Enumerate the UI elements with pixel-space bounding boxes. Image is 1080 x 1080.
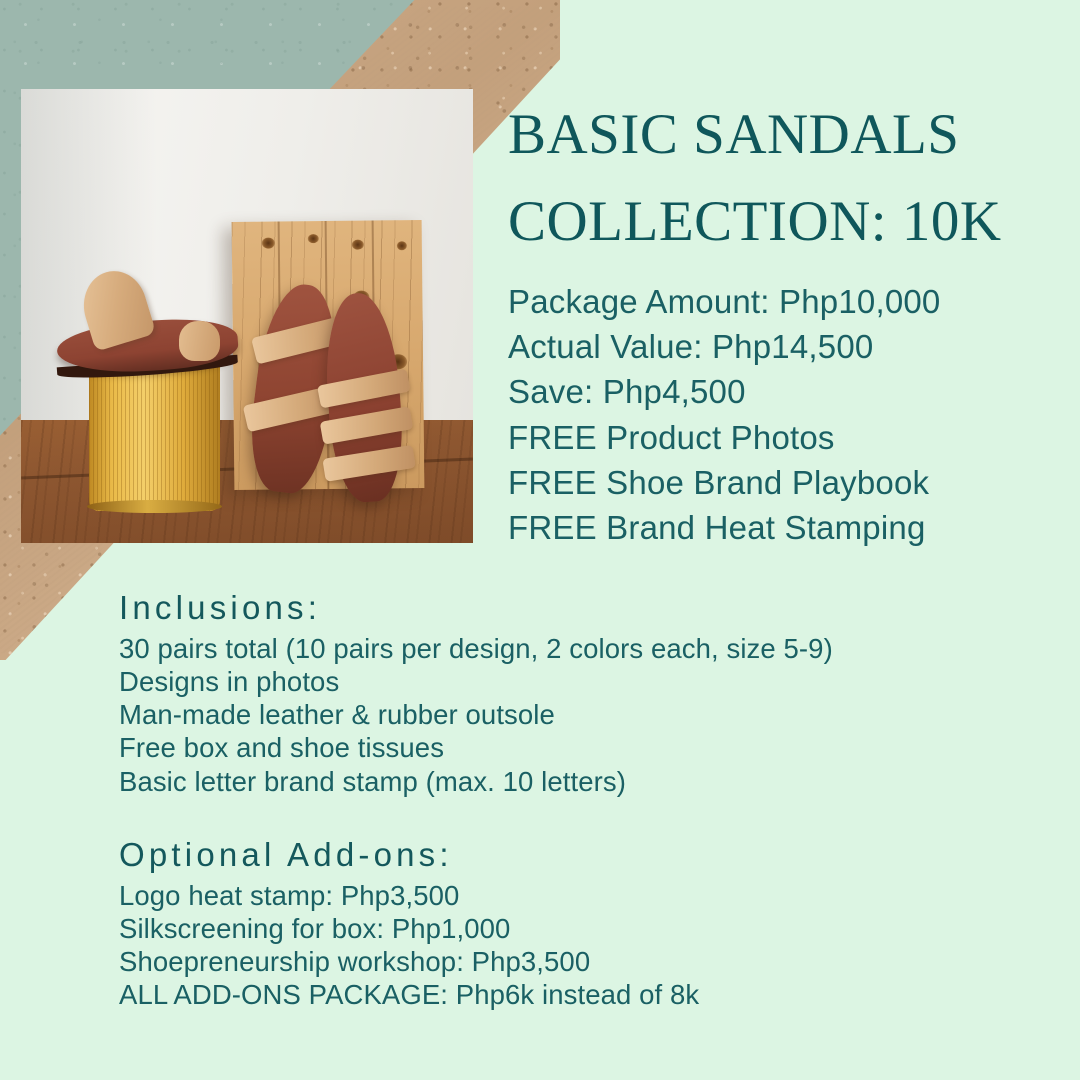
list-item: Free box and shoe tissues (119, 731, 1019, 764)
list-item: Silkscreening for box: Php1,000 (119, 912, 1019, 945)
page-title: BASIC SANDALS COLLECTION: 10K (508, 92, 1053, 265)
inclusions-list: 30 pairs total (10 pairs per design, 2 c… (119, 632, 1019, 798)
addons-heading: Optional Add-ons: (119, 833, 1019, 877)
headline-line-1: BASIC SANDALS (508, 92, 1053, 179)
list-item: Basic letter brand stamp (max. 10 letter… (119, 765, 1019, 798)
package-line: Package Amount: Php10,000 (508, 279, 1053, 324)
package-line: FREE Shoe Brand Playbook (508, 460, 1053, 505)
package-line: Actual Value: Php14,500 (508, 324, 1053, 369)
package-line: FREE Product Photos (508, 415, 1053, 460)
poster-canvas: BASIC SANDALS COLLECTION: 10K Package Am… (0, 0, 1080, 1080)
inclusions-section: Inclusions: 30 pairs total (10 pairs per… (119, 586, 1019, 798)
inclusions-heading: Inclusions: (119, 586, 1019, 630)
package-line: FREE Brand Heat Stamping (508, 505, 1053, 550)
package-details-list: Package Amount: Php10,000 Actual Value: … (508, 279, 1053, 550)
photo-mule-toe-strap (179, 321, 220, 362)
product-photo (21, 89, 473, 543)
optional-addons-section: Optional Add-ons: Logo heat stamp: Php3,… (119, 833, 1019, 1012)
list-item: Logo heat stamp: Php3,500 (119, 879, 1019, 912)
headline-line-2: COLLECTION: 10K (508, 179, 1053, 266)
list-item: ALL ADD-ONS PACKAGE: Php6k instead of 8k (119, 978, 1019, 1011)
package-line: Save: Php4,500 (508, 369, 1053, 414)
photo-gold-tin (89, 361, 220, 511)
list-item: Designs in photos (119, 665, 1019, 698)
list-item: Shoepreneurship workshop: Php3,500 (119, 945, 1019, 978)
photo-slide-band (320, 407, 414, 445)
list-item: 30 pairs total (10 pairs per design, 2 c… (119, 632, 1019, 665)
list-item: Man-made leather & rubber outsole (119, 698, 1019, 731)
photo-slide-band (317, 368, 411, 408)
addons-list: Logo heat stamp: Php3,500 Silkscreening … (119, 879, 1019, 1012)
